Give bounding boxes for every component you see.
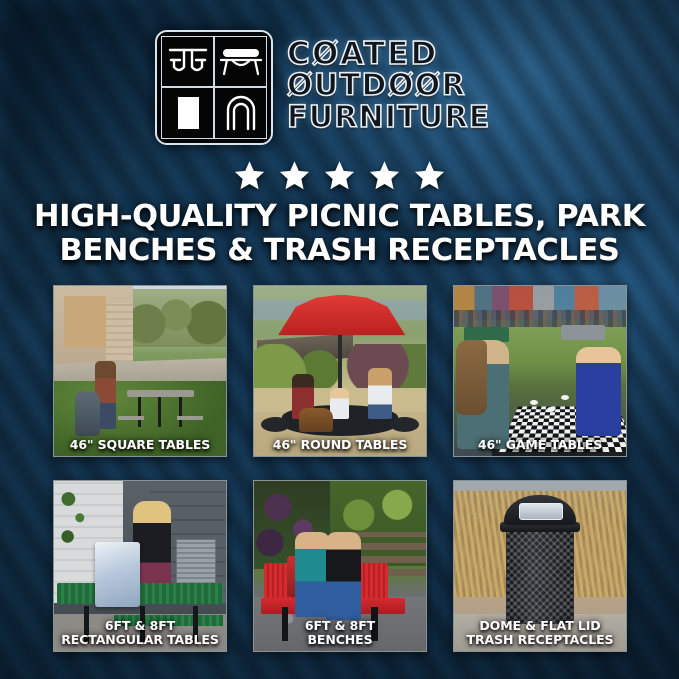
logo-icon-grid	[155, 30, 273, 145]
tile-caption: 46" ROUND TABLES	[254, 438, 426, 452]
caption-line-2: TRASH RECEPTACLES	[457, 633, 623, 647]
caption-line-1: DOME & FLAT LID	[457, 619, 623, 633]
product-photo	[54, 286, 226, 456]
tile-caption: 6FT & 8FT RECTANGULAR TABLES	[54, 619, 226, 646]
product-grid: 46" SQUARE TABLES 46" ROUND TABLES	[53, 285, 627, 652]
bike-rack-icon	[214, 87, 267, 139]
star-icon	[413, 159, 446, 192]
tile-caption: 46" GAME TABLES	[454, 438, 626, 452]
product-tile-round-tables[interactable]: 46" ROUND TABLES	[253, 285, 427, 457]
wordmark-line-1: CØATED	[287, 39, 545, 71]
caption-line-1: 6FT & 8FT	[257, 619, 423, 633]
headline: HIGH-QUALITY PICNIC TABLES, PARK BENCHES…	[30, 200, 649, 268]
picnic-table-icon	[161, 36, 214, 88]
caption-line-2: RECTANGULAR TABLES	[57, 633, 223, 647]
product-photo	[454, 286, 626, 456]
star-icon	[368, 159, 401, 192]
tile-caption: 6FT & 8FT BENCHES	[254, 619, 426, 646]
caption-line-2: BENCHES	[257, 633, 423, 647]
star-rating	[0, 156, 679, 194]
tile-caption: 46" SQUARE TABLES	[54, 438, 226, 452]
product-photo	[254, 286, 426, 456]
product-tile-rectangular-tables[interactable]: 6FT & 8FT RECTANGULAR TABLES	[53, 480, 227, 652]
headline-line-1: HIGH-QUALITY PICNIC TABLES, PARK	[30, 200, 649, 234]
tile-caption: DOME & FLAT LID TRASH RECEPTACLES	[454, 619, 626, 646]
brand-logo: CØATED ØUTDØØR FURNITURE	[155, 28, 545, 146]
star-icon	[233, 159, 266, 192]
product-tile-game-tables[interactable]: 46" GAME TABLES	[453, 285, 627, 457]
brand-wordmark: CØATED ØUTDØØR FURNITURE	[287, 39, 545, 136]
wordmark-line-3: FURNITURE	[287, 103, 545, 134]
promo-banner: CØATED ØUTDØØR FURNITURE HIGH-QUALITY PI…	[0, 0, 679, 679]
caption-line-1: 46" GAME TABLES	[457, 438, 623, 452]
product-tile-benches[interactable]: 6FT & 8FT BENCHES	[253, 480, 427, 652]
headline-line-2: BENCHES & TRASH RECEPTACLES	[30, 234, 649, 268]
caption-line-1: 46" ROUND TABLES	[257, 438, 423, 452]
star-icon	[323, 159, 356, 192]
product-tile-square-tables[interactable]: 46" SQUARE TABLES	[53, 285, 227, 457]
star-icon	[278, 159, 311, 192]
product-tile-trash-receptacles[interactable]: DOME & FLAT LID TRASH RECEPTACLES	[453, 480, 627, 652]
wordmark-line-2: ØUTDØØR	[287, 71, 545, 102]
trash-receptacle-icon	[161, 87, 214, 139]
caption-line-1: 6FT & 8FT	[57, 619, 223, 633]
caption-line-1: 46" SQUARE TABLES	[57, 438, 223, 452]
park-bench-icon	[214, 36, 267, 88]
